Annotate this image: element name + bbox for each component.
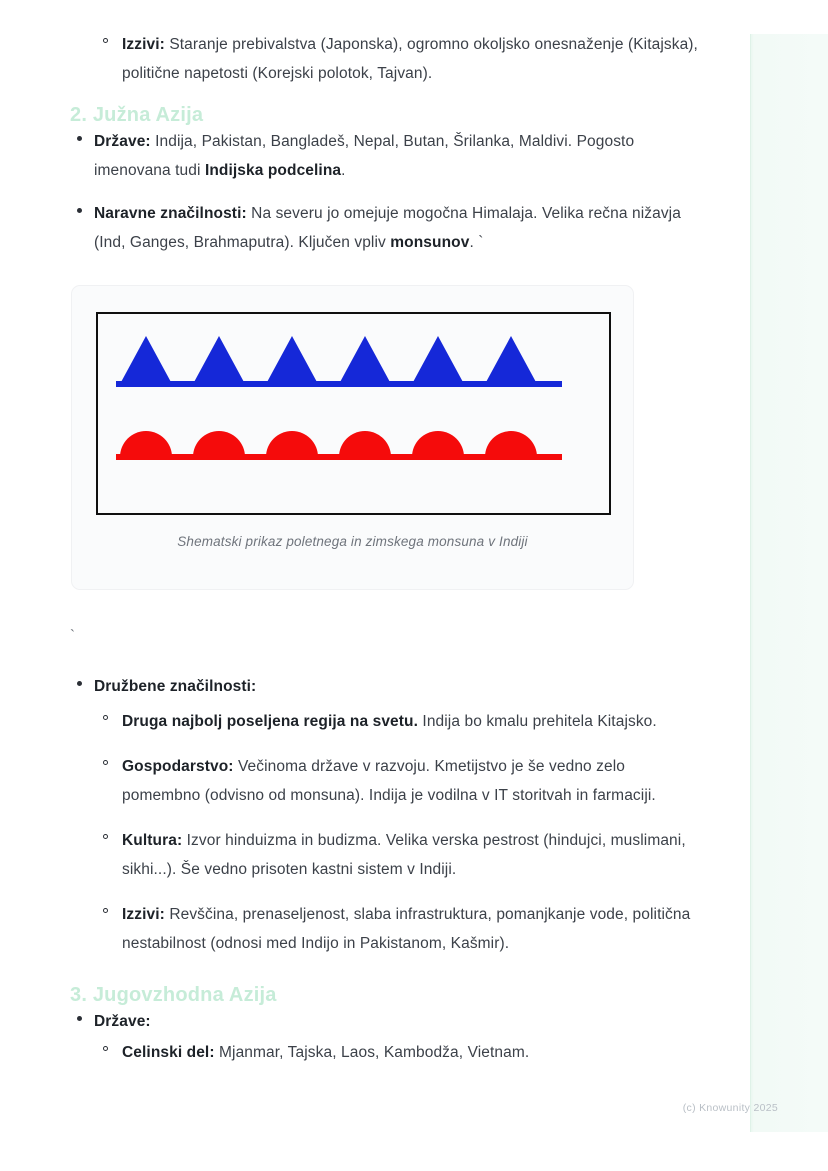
disc-bullet-icon (77, 136, 82, 141)
list-item-tail: . ` (469, 234, 483, 251)
hollow-bullet-icon (103, 834, 108, 839)
list-item-body: Staranje prebivalstva (Japonska), ogromn… (122, 36, 698, 82)
list-item-text: Države: Indija, Pakistan, Bangladeš, Nep… (94, 133, 634, 179)
list-item-text: Naravne značilnosti: Na severu jo omejuj… (94, 205, 681, 251)
list-item: Države: Celinski del: Mjanmar, Tajska, L… (0, 1007, 700, 1067)
disc-bullet-icon (77, 1016, 82, 1021)
list-item: Družbene značilnosti: Druga najbolj pose… (0, 672, 700, 958)
stray-backtick: ` (0, 626, 700, 646)
list-item-text: Druga najbolj poseljena regija na svetu.… (122, 713, 657, 730)
list-item-lead: Družbene značilnosti: (94, 678, 256, 695)
list-item-lead: Države: (94, 1013, 151, 1030)
right-edge-stripe (750, 34, 828, 1132)
list-item: Gospodarstvo: Večinoma države v razvoju.… (94, 752, 700, 810)
list-item-lead: Druga najbolj poseljena regija na svetu. (122, 713, 418, 730)
list-item-lead: Naravne značilnosti: (94, 205, 247, 222)
list-item: Druga najbolj poseljena regija na svetu.… (94, 707, 700, 736)
section-heading-2: 2. Južna Azija (0, 104, 700, 127)
list-item-lead: Gospodarstvo: (122, 758, 234, 775)
list-item-body: Indija bo kmalu prehitela Kitajsko. (418, 713, 657, 730)
list-item-text: Izzivi: Revščina, prenaseljenost, slaba … (122, 906, 690, 952)
section-2-list: Države: Indija, Pakistan, Bangladeš, Nep… (0, 127, 700, 257)
hollow-bullet-icon (103, 908, 108, 913)
figure-caption: Shematski prikaz poletnega in zimskega m… (72, 534, 633, 549)
monsoon-figure-card: Shematski prikaz poletnega in zimskega m… (71, 285, 634, 590)
list-item-body: Revščina, prenaseljenost, slaba infrastr… (122, 906, 690, 952)
social-characteristics-list: Družbene značilnosti: Druga najbolj pose… (0, 672, 700, 958)
list-item-text: Celinski del: Mjanmar, Tajska, Laos, Kam… (122, 1044, 529, 1061)
list-item: Izzivi: Revščina, prenaseljenost, slaba … (94, 900, 700, 958)
list-item-tail: . (341, 162, 345, 179)
summer-monsoon-triangles (116, 336, 562, 387)
list-item-lead: Izzivi: (122, 906, 165, 923)
monsoon-diagram-svg (98, 314, 608, 512)
disc-bullet-icon (77, 208, 82, 213)
list-item-emphasis: Indijska podcelina (205, 162, 341, 179)
hollow-bullet-icon (103, 760, 108, 765)
disc-bullet-icon (77, 681, 82, 686)
copyright-watermark: (c) Knowunity 2025 (683, 1102, 778, 1114)
list-item-lead: Celinski del: (122, 1044, 215, 1061)
social-sublist: Druga najbolj poseljena regija na svetu.… (94, 707, 700, 958)
list-item-lead: Izzivi: (122, 36, 165, 53)
document-page: Izzivi: Staranje prebivalstva (Japonska)… (0, 0, 828, 1171)
hollow-bullet-icon (103, 715, 108, 720)
list-item-lead: Države: (94, 133, 151, 150)
list-item-body: Mjanmar, Tajska, Laos, Kambodža, Vietnam… (215, 1044, 530, 1061)
list-item-lead: Kultura: (122, 832, 182, 849)
list-item-body: Indija, Pakistan, Bangladeš, Nepal, Buta… (94, 133, 634, 179)
hollow-bullet-icon (103, 1046, 108, 1051)
monsoon-diagram (96, 312, 611, 515)
winter-monsoon-semicircles (116, 431, 562, 460)
list-item-text: Gospodarstvo: Večinoma države v razvoju.… (122, 758, 656, 804)
list-item: Celinski del: Mjanmar, Tajska, Laos, Kam… (94, 1038, 700, 1067)
list-item-text: Izzivi: Staranje prebivalstva (Japonska)… (122, 36, 698, 82)
list-item-body: Izvor hinduizma in budizma. Velika versk… (122, 832, 686, 878)
hollow-bullet-icon (103, 38, 108, 43)
states-sublist: Celinski del: Mjanmar, Tajska, Laos, Kam… (94, 1038, 700, 1067)
continued-list: Izzivi: Staranje prebivalstva (Japonska)… (0, 30, 700, 88)
list-item: Kultura: Izvor hinduizma in budizma. Vel… (94, 826, 700, 884)
section-heading-3: 3. Jugovzhodna Azija (0, 984, 700, 1007)
list-item: Države: Indija, Pakistan, Bangladeš, Nep… (0, 127, 700, 185)
section-3-list: Države: Celinski del: Mjanmar, Tajska, L… (0, 1007, 700, 1067)
list-item: Izzivi: Staranje prebivalstva (Japonska)… (94, 30, 700, 88)
list-item: Naravne značilnosti: Na severu jo omejuj… (0, 199, 700, 257)
list-item-emphasis: monsunov (390, 234, 469, 251)
document-content: Izzivi: Staranje prebivalstva (Japonska)… (0, 0, 700, 1083)
list-item-text: Kultura: Izvor hinduizma in budizma. Vel… (122, 832, 686, 878)
